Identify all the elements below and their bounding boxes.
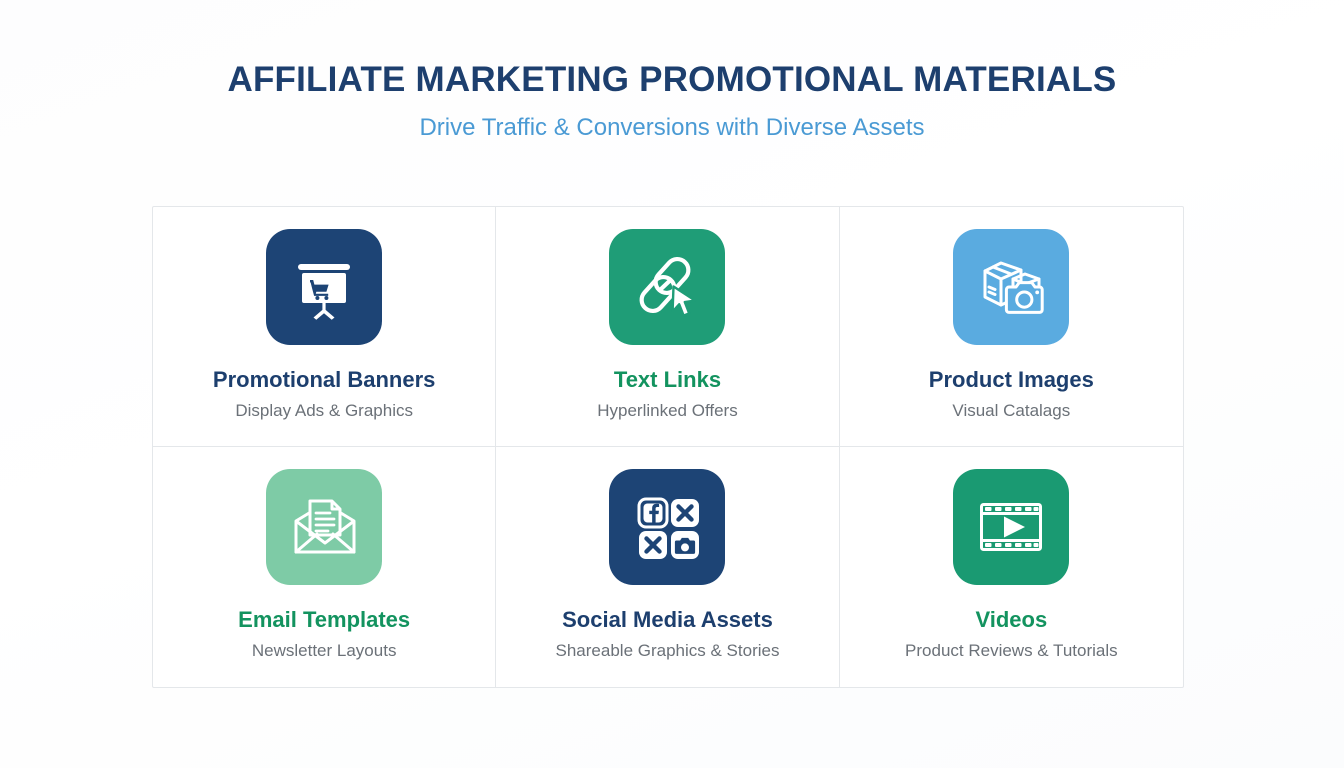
materials-grid: Promotional Banners Display Ads & Graphi…	[152, 206, 1184, 688]
film-strip-play-icon	[953, 469, 1069, 585]
card-videos[interactable]: Videos Product Reviews & Tutorials	[840, 447, 1183, 687]
card-title: Text Links	[614, 367, 721, 392]
card-promotional-banners[interactable]: Promotional Banners Display Ads & Graphi…	[153, 207, 496, 447]
card-description: Newsletter Layouts	[252, 641, 397, 661]
card-title: Product Images	[929, 367, 1094, 392]
card-product-images[interactable]: Product Images Visual Catalags	[840, 207, 1183, 447]
card-description: Shareable Graphics & Stories	[556, 641, 780, 661]
card-description: Visual Catalags	[952, 401, 1070, 421]
card-text-links[interactable]: Text Links Hyperlinked Offers	[496, 207, 839, 447]
card-description: Product Reviews & Tutorials	[905, 641, 1118, 661]
page-subtitle: Drive Traffic & Conversions with Diverse…	[0, 114, 1344, 143]
card-title: Promotional Banners	[213, 367, 435, 392]
card-description: Hyperlinked Offers	[597, 401, 737, 421]
card-title: Email Templates	[238, 607, 410, 632]
social-network-grid-icon	[609, 469, 725, 585]
card-email-templates[interactable]: Email Templates Newsletter Layouts	[153, 447, 496, 687]
chain-link-cursor-icon	[609, 229, 725, 345]
card-description: Display Ads & Graphics	[235, 401, 413, 421]
card-title: Videos	[975, 607, 1047, 632]
open-envelope-document-icon	[266, 469, 382, 585]
page-header: AFFILIATE MARKETING PROMOTIONAL MATERIAL…	[0, 60, 1344, 143]
page-title: AFFILIATE MARKETING PROMOTIONAL MATERIAL…	[0, 60, 1344, 100]
boxes-camera-icon	[953, 229, 1069, 345]
presentation-board-cart-icon	[266, 229, 382, 345]
card-social-media-assets[interactable]: Social Media Assets Shareable Graphics &…	[496, 447, 839, 687]
card-title: Social Media Assets	[562, 607, 773, 632]
infographic-page: AFFILIATE MARKETING PROMOTIONAL MATERIAL…	[0, 0, 1344, 768]
